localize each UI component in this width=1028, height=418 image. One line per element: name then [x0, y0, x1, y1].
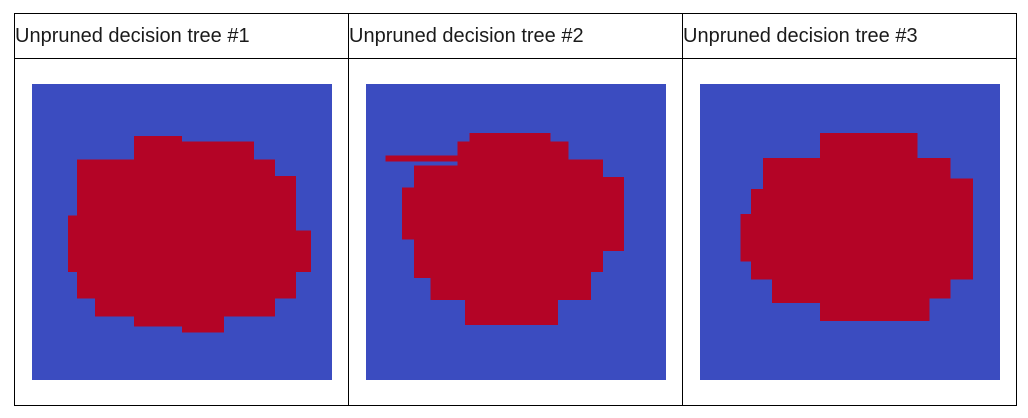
screenshot-root: Unpruned decision tree #1 Unpruned decis… — [0, 0, 1028, 418]
table-plot-row — [15, 59, 1017, 406]
class-1-decision-region — [68, 136, 311, 333]
class-1-decision-region — [740, 133, 973, 321]
decision-tree-comparison-table: Unpruned decision tree #1 Unpruned decis… — [14, 13, 1017, 406]
column-header-tree-2: Unpruned decision tree #2 — [349, 14, 683, 59]
plot-cell-tree-1 — [15, 59, 349, 406]
decision-boundary-svg-tree-2 — [366, 84, 666, 380]
plot-cell-tree-2 — [349, 59, 683, 406]
decision-boundary-svg-tree-1 — [32, 84, 332, 380]
class-1-overfit-sliver — [385, 156, 457, 162]
column-header-tree-1: Unpruned decision tree #1 — [15, 14, 349, 59]
decision-boundary-plot-tree-2 — [366, 84, 666, 380]
decision-boundary-svg-tree-3 — [700, 84, 1000, 380]
decision-boundary-plot-tree-1 — [32, 84, 332, 380]
column-header-tree-3: Unpruned decision tree #3 — [683, 14, 1017, 59]
decision-boundary-plot-tree-3 — [700, 84, 1000, 380]
plot-cell-tree-3 — [683, 59, 1017, 406]
table-header-row: Unpruned decision tree #1 Unpruned decis… — [15, 14, 1017, 59]
